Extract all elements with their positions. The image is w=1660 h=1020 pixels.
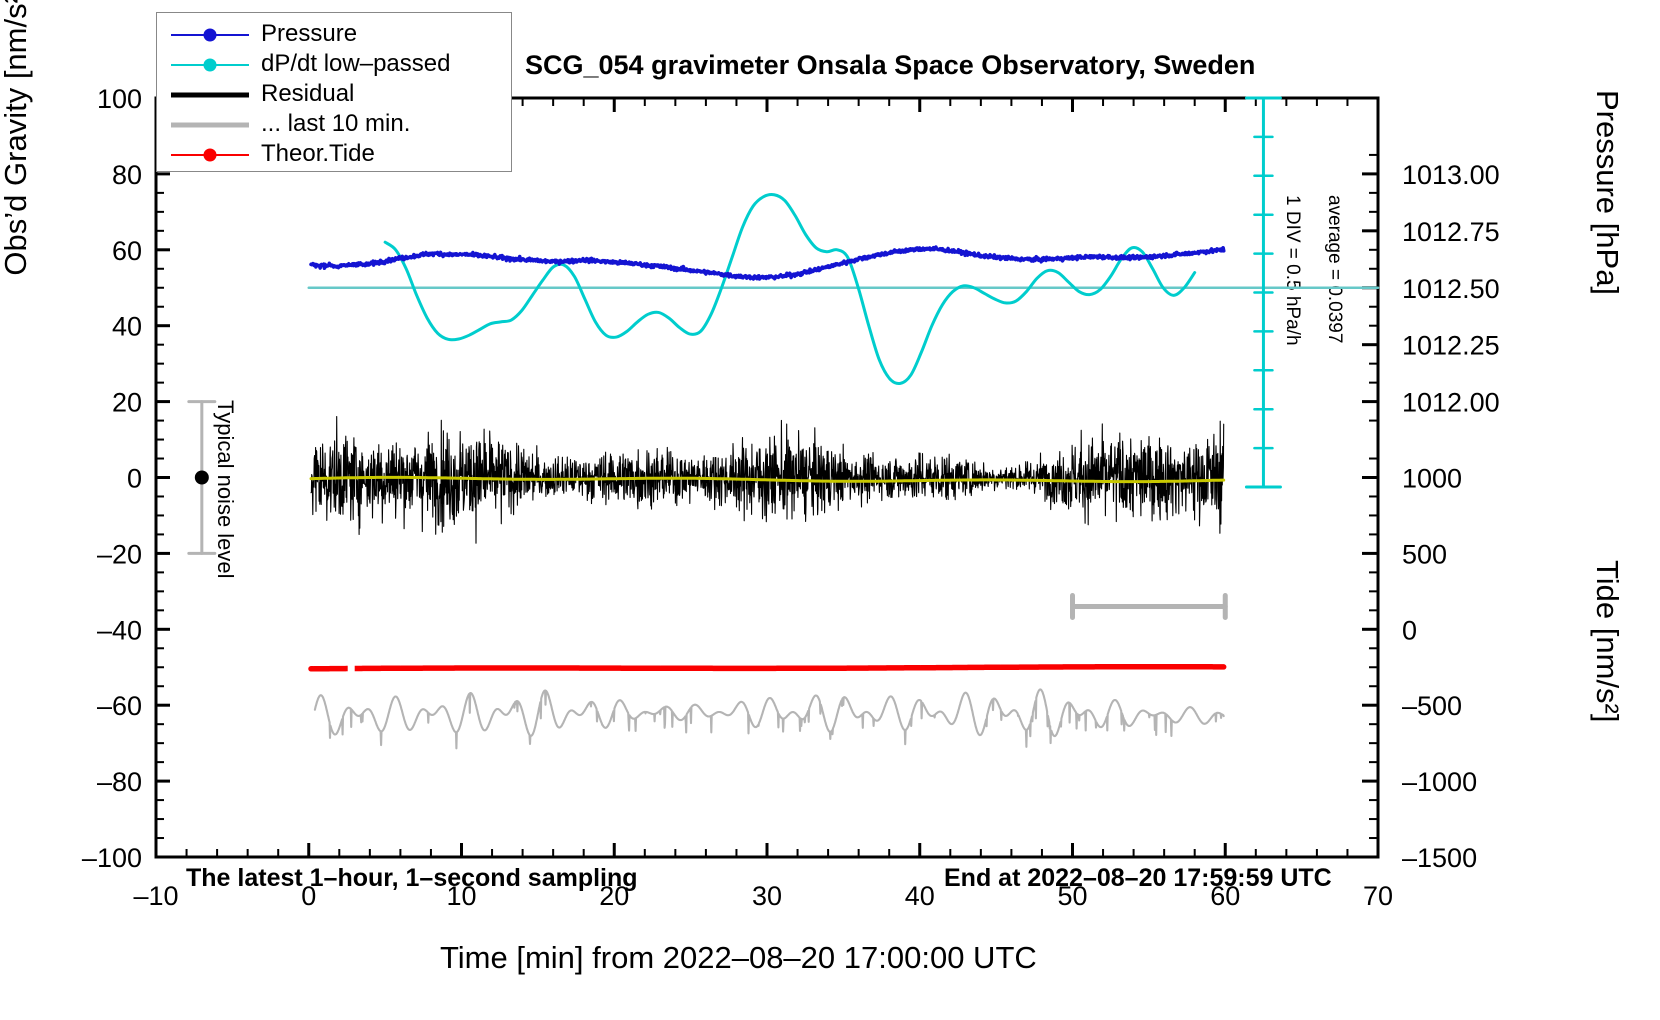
y-tick-label: –100 — [82, 843, 142, 873]
y-tick-label-tide: –1500 — [1402, 843, 1477, 873]
x-tick-label: 60 — [1210, 881, 1240, 911]
x-tick-label: –10 — [133, 881, 178, 911]
dpdt-lowpassed-curve — [385, 195, 1195, 384]
legend-marker-1 — [204, 59, 217, 72]
legend-box: PressuredP/dt low–passedResidual... last… — [156, 12, 512, 172]
y-tick-label-tide: –500 — [1402, 691, 1462, 721]
tide-gap — [348, 663, 355, 672]
x-tick-label: 30 — [752, 881, 782, 911]
y-tick-label: –40 — [97, 615, 142, 645]
y-tick-label-pressure: 1012.25 — [1402, 331, 1500, 361]
x-tick-label: 40 — [905, 881, 935, 911]
y-tick-label: 60 — [112, 236, 142, 266]
y-tick-label-tide: 1000 — [1402, 464, 1462, 494]
y-tick-label: 80 — [112, 160, 142, 190]
noise-center-dot — [195, 471, 209, 485]
x-tick-label: 70 — [1363, 881, 1393, 911]
pressure-curve — [311, 247, 1224, 279]
legend-label-4[interactable]: Theor.Tide — [261, 140, 375, 168]
y-tick-label-pressure: 1013.00 — [1402, 160, 1500, 190]
y-tick-label: –20 — [97, 539, 142, 569]
x-tick-label: 50 — [1057, 881, 1087, 911]
y-tick-label-pressure: 1012.75 — [1402, 217, 1500, 247]
y-tick-label-pressure: 1012.00 — [1402, 388, 1500, 418]
legend-marker-0 — [204, 29, 217, 42]
legend-label-0[interactable]: Pressure — [261, 20, 357, 48]
theoretical-tide-curve — [311, 667, 1224, 669]
legend-label-1[interactable]: dP/dt low–passed — [261, 50, 450, 78]
x-tick-label: 10 — [446, 881, 476, 911]
y-tick-label-tide: 0 — [1402, 615, 1417, 645]
x-tick-label: 20 — [599, 881, 629, 911]
gravimeter-plot-page: Obs’d Gravity [nm/s²] Pressure [hPa] Tid… — [0, 0, 1660, 1020]
x-tick-label: 0 — [301, 881, 316, 911]
y-tick-label: 0 — [127, 464, 142, 494]
y-tick-label: –80 — [97, 767, 142, 797]
legend-label-3[interactable]: ... last 10 min. — [261, 110, 410, 138]
y-tick-label-tide: 500 — [1402, 539, 1447, 569]
y-tick-label: –60 — [97, 691, 142, 721]
last10-detail-trace — [315, 689, 1224, 748]
legend-marker-4 — [204, 149, 217, 162]
y-tick-label: 40 — [112, 312, 142, 342]
legend-label-2[interactable]: Residual — [261, 80, 354, 108]
y-tick-label-tide: –1000 — [1402, 767, 1477, 797]
y-tick-label: 100 — [97, 84, 142, 114]
y-tick-label-pressure: 1012.50 — [1402, 274, 1500, 304]
y-tick-label: 20 — [112, 388, 142, 418]
